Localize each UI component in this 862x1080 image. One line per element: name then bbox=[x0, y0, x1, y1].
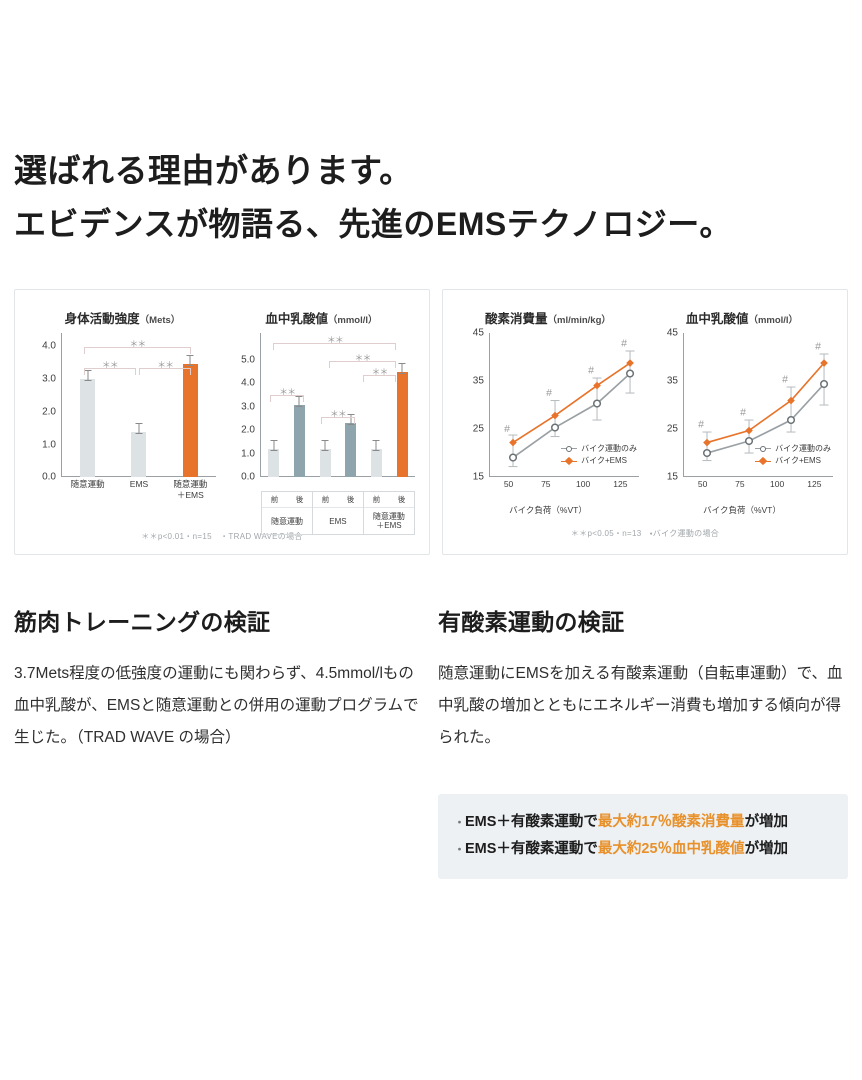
x-tick: 50 bbox=[490, 477, 527, 501]
chart-1-title-text: 身体活動強度 bbox=[65, 312, 140, 326]
y-tick: 0.0 bbox=[42, 472, 56, 483]
chart-2-unit: （mmol/l） bbox=[328, 315, 378, 326]
svg-text:#: # bbox=[740, 407, 746, 419]
x-group-combined: 前 後 随意運動＋EMS bbox=[364, 491, 415, 535]
bullet-icon: ・ bbox=[454, 817, 465, 829]
error-bar bbox=[273, 440, 274, 451]
svg-text:#: # bbox=[621, 338, 627, 350]
chart-3-x-axis-label: バイク負荷（%VT） bbox=[451, 504, 645, 516]
chart-3-title: 酸素消費量（ml/min/kg） bbox=[451, 308, 645, 327]
x-label-voluntary-exercise: 随意運動 bbox=[62, 477, 113, 501]
filled-diamond-marker-icon bbox=[755, 457, 771, 465]
column-1-title: 筋肉トレーニングの検証 bbox=[14, 603, 424, 637]
chart-3-title-text: 酸素消費量 bbox=[485, 312, 548, 326]
legend-item-bike-only: バイク運動のみ bbox=[755, 443, 831, 455]
y-tick: 35 bbox=[667, 376, 678, 387]
svg-text:#: # bbox=[588, 365, 594, 377]
chart-4-plot: 45 35 25 15 bbox=[649, 333, 835, 501]
callout-line-1: ・EMS＋有酸素運動で最大約17％酸素消費量が増加 bbox=[454, 809, 832, 836]
chart-2-title-text: 血中乳酸値 bbox=[265, 312, 328, 326]
y-tick: 15 bbox=[667, 472, 678, 483]
chart-blood-lactate-line: 血中乳酸値（mmol/l） 45 35 25 15 bbox=[645, 308, 839, 516]
column-2-title: 有酸素運動の検証 bbox=[438, 603, 848, 637]
chart-4-y-axis: 45 35 25 15 bbox=[649, 333, 683, 477]
callout-box: ・EMS＋有酸素運動で最大約17％酸素消費量が増加 ・EMS＋有酸素運動で最大約… bbox=[438, 794, 848, 879]
callout-suffix: が増加 bbox=[745, 814, 789, 830]
bar-ems-post bbox=[345, 423, 356, 477]
x-label-ems: EMS bbox=[113, 477, 164, 501]
y-tick: 25 bbox=[473, 424, 484, 435]
chart-1-plot: 4.0 3.0 2.0 1.0 0.0 bbox=[27, 333, 218, 501]
x-tick: 100 bbox=[564, 477, 601, 501]
column-aerobic-exercise: 有酸素運動の検証 随意運動にEMSを加える有酸素運動（自転車運動）で、血中乳酸の… bbox=[438, 603, 848, 878]
pre-post-row: 前 後 bbox=[364, 492, 414, 508]
chart-4-x-axis-label: バイク負荷（%VT） bbox=[645, 504, 839, 516]
legend-item-bike-only: バイク運動のみ bbox=[561, 443, 637, 455]
svg-text:#: # bbox=[546, 387, 552, 399]
error-bar bbox=[138, 423, 139, 434]
svg-text:#: # bbox=[815, 341, 821, 353]
legend-item-bike-ems: バイク+EMS bbox=[755, 455, 831, 467]
bar-voluntary-pre bbox=[268, 449, 279, 477]
chart-1-y-axis: 4.0 3.0 2.0 1.0 0.0 bbox=[27, 333, 61, 477]
panel-right-footnote: ＊＊p<0.05・n=13 ・バイク運動の場合 bbox=[451, 528, 839, 539]
legend-label: バイク運動のみ bbox=[775, 443, 831, 455]
chart-2-title: 血中乳酸値（mmol/l） bbox=[222, 308, 421, 327]
legend-label: バイク運動のみ bbox=[581, 443, 637, 455]
error-bar bbox=[87, 370, 88, 381]
error-bar bbox=[376, 440, 377, 451]
chart-blood-lactate-bar: 血中乳酸値（mmol/l） 5.0 4.0 3.0 2.0 1.0 0.0 bbox=[222, 308, 421, 501]
evidence-panels: 身体活動強度（Mets） 4.0 3.0 2.0 1.0 0.0 bbox=[14, 289, 848, 555]
y-tick: 0.0 bbox=[241, 472, 255, 483]
bar-ems-pre bbox=[320, 449, 331, 477]
error-bar bbox=[325, 440, 326, 451]
open-circle-marker-icon bbox=[755, 445, 771, 453]
bar-slot bbox=[287, 333, 313, 477]
chart-3-legend: バイク運動のみ バイク+EMS bbox=[561, 443, 637, 468]
chart-4-x-labels: 50 75 100 125 bbox=[684, 477, 833, 501]
error-bar bbox=[190, 355, 191, 366]
x-tick: 75 bbox=[527, 477, 564, 501]
legend-label: バイク+EMS bbox=[581, 455, 627, 467]
sublabel-pre: 前 bbox=[262, 492, 287, 507]
svg-text:#: # bbox=[782, 374, 788, 386]
chart-3-x-labels: 50 75 100 125 bbox=[490, 477, 639, 501]
bar-slot bbox=[364, 333, 390, 477]
error-bar bbox=[299, 396, 300, 407]
column-muscle-training: 筋肉トレーニングの検証 3.7Mets程度の低強度の運動にも関わらず、4.5mm… bbox=[14, 603, 424, 878]
callout-suffix: が増加 bbox=[745, 841, 789, 857]
x-group-ems: 前 後 EMS bbox=[313, 491, 364, 535]
legend-item-bike-ems: バイク+EMS bbox=[561, 455, 637, 467]
svg-text:#: # bbox=[504, 423, 510, 435]
bullet-icon: ・ bbox=[454, 844, 465, 856]
svg-text:#: # bbox=[698, 419, 704, 431]
y-tick: 4.0 bbox=[241, 377, 255, 388]
chart-2-bars bbox=[261, 333, 415, 477]
legend-label: バイク+EMS bbox=[775, 455, 821, 467]
y-tick: 3.0 bbox=[241, 401, 255, 412]
x-tick: 50 bbox=[684, 477, 721, 501]
callout-highlight: 最大約17％酸素消費量 bbox=[598, 814, 745, 830]
error-bar bbox=[402, 363, 403, 374]
group-label-voluntary: 随意運動 bbox=[262, 508, 312, 534]
sublabel-post: 後 bbox=[389, 492, 414, 507]
bar-voluntary-plus-ems bbox=[183, 364, 198, 477]
filled-diamond-marker-icon bbox=[561, 457, 577, 465]
y-tick: 4.0 bbox=[42, 341, 56, 352]
headline-line-1: 選ばれる理由があります。 bbox=[14, 148, 848, 195]
bar-slot bbox=[62, 333, 113, 477]
headline-block: 選ばれる理由があります。 エビデンスが物語る、先進のEMSテクノロジー。 bbox=[14, 0, 848, 247]
chart-2-plot: 5.0 4.0 3.0 2.0 1.0 0.0 bbox=[226, 333, 417, 501]
chart-1-x-labels: 随意運動 EMS 随意運動＋EMS bbox=[62, 477, 216, 501]
open-circle-marker-icon bbox=[561, 445, 577, 453]
chart-2-x-groups: 前 後 随意運動 前 後 EMS bbox=[261, 491, 415, 535]
chart-3-unit: （ml/min/kg） bbox=[548, 315, 611, 326]
callout-line-2: ・EMS＋有酸素運動で最大約25％血中乳酸値が増加 bbox=[454, 836, 832, 863]
pre-post-row: 前 後 bbox=[262, 492, 312, 508]
pre-post-row: 前 後 bbox=[313, 492, 363, 508]
panel-aerobic-exercise: 酸素消費量（ml/min/kg） 45 35 25 15 bbox=[442, 289, 848, 555]
y-tick: 2.0 bbox=[241, 425, 255, 436]
chart-1-title: 身体活動強度（Mets） bbox=[23, 308, 222, 327]
chart-2-y-axis: 5.0 4.0 3.0 2.0 1.0 0.0 bbox=[226, 333, 260, 477]
y-tick: 45 bbox=[473, 328, 484, 339]
callout-prefix: EMS＋有酸素運動で bbox=[465, 841, 598, 857]
bar-slot bbox=[312, 333, 338, 477]
description-columns: 筋肉トレーニングの検証 3.7Mets程度の低強度の運動にも関わらず、4.5mm… bbox=[14, 603, 848, 878]
page-root: 選ばれる理由があります。 エビデンスが物語る、先進のEMSテクノロジー。 身体活… bbox=[0, 0, 862, 1080]
chart-4-unit: （mmol/l） bbox=[748, 315, 798, 326]
bar-slot bbox=[113, 333, 164, 477]
sublabel-pre: 前 bbox=[313, 492, 338, 507]
y-tick: 45 bbox=[667, 328, 678, 339]
y-tick: 25 bbox=[667, 424, 678, 435]
headline-line-2: エビデンスが物語る、先進のEMSテクノロジー。 bbox=[14, 202, 848, 247]
bar-slot bbox=[338, 333, 364, 477]
bar-ems bbox=[131, 432, 146, 478]
y-tick: 1.0 bbox=[42, 439, 56, 450]
sublabel-pre: 前 bbox=[364, 492, 389, 507]
bar-voluntary-post bbox=[294, 405, 305, 477]
y-tick: 1.0 bbox=[241, 448, 255, 459]
chart-1-bars bbox=[62, 333, 216, 477]
callout-prefix: EMS＋有酸素運動で bbox=[465, 814, 598, 830]
y-tick: 2.0 bbox=[42, 406, 56, 417]
bar-slot bbox=[261, 333, 287, 477]
bar-slot bbox=[165, 333, 216, 477]
chart-oxygen-consumption: 酸素消費量（ml/min/kg） 45 35 25 15 bbox=[451, 308, 645, 516]
x-label-voluntary-plus-ems: 随意運動＋EMS bbox=[165, 477, 216, 501]
column-1-body: 3.7Mets程度の低強度の運動にも関わらず、4.5mmol/lもの血中乳酸が、… bbox=[14, 658, 424, 754]
bar-combined-post bbox=[397, 372, 408, 477]
x-tick: 125 bbox=[602, 477, 639, 501]
bar-slot bbox=[389, 333, 415, 477]
x-tick: 100 bbox=[759, 477, 796, 501]
chart-4-legend: バイク運動のみ バイク+EMS bbox=[755, 443, 831, 468]
panel-muscle-training: 身体活動強度（Mets） 4.0 3.0 2.0 1.0 0.0 bbox=[14, 289, 430, 555]
sublabel-post: 後 bbox=[287, 492, 312, 507]
y-tick: 15 bbox=[473, 472, 484, 483]
group-label-ems: EMS bbox=[313, 508, 363, 534]
chart-physical-activity-intensity: 身体活動強度（Mets） 4.0 3.0 2.0 1.0 0.0 bbox=[23, 308, 222, 501]
y-tick: 35 bbox=[473, 376, 484, 387]
chart-1-unit: （Mets） bbox=[140, 315, 181, 326]
x-tick: 75 bbox=[721, 477, 758, 501]
error-bar bbox=[350, 414, 351, 425]
y-tick: 5.0 bbox=[241, 354, 255, 365]
y-tick: 3.0 bbox=[42, 374, 56, 385]
bar-combined-pre bbox=[371, 449, 382, 477]
callout-highlight: 最大約25％血中乳酸値 bbox=[598, 841, 745, 857]
chart-4-title: 血中乳酸値（mmol/l） bbox=[645, 308, 839, 327]
chart-4-title-text: 血中乳酸値 bbox=[686, 312, 749, 326]
bar-voluntary-exercise bbox=[80, 379, 95, 477]
x-tick: 125 bbox=[796, 477, 833, 501]
chart-3-y-axis: 45 35 25 15 bbox=[455, 333, 489, 477]
x-group-voluntary: 前 後 随意運動 bbox=[261, 491, 313, 535]
group-label-combined: 随意運動＋EMS bbox=[364, 508, 414, 534]
column-2-body: 随意運動にEMSを加える有酸素運動（自転車運動）で、血中乳酸の増加とともにエネル… bbox=[438, 658, 848, 754]
sublabel-post: 後 bbox=[338, 492, 363, 507]
chart-3-plot: 45 35 25 15 bbox=[455, 333, 641, 501]
